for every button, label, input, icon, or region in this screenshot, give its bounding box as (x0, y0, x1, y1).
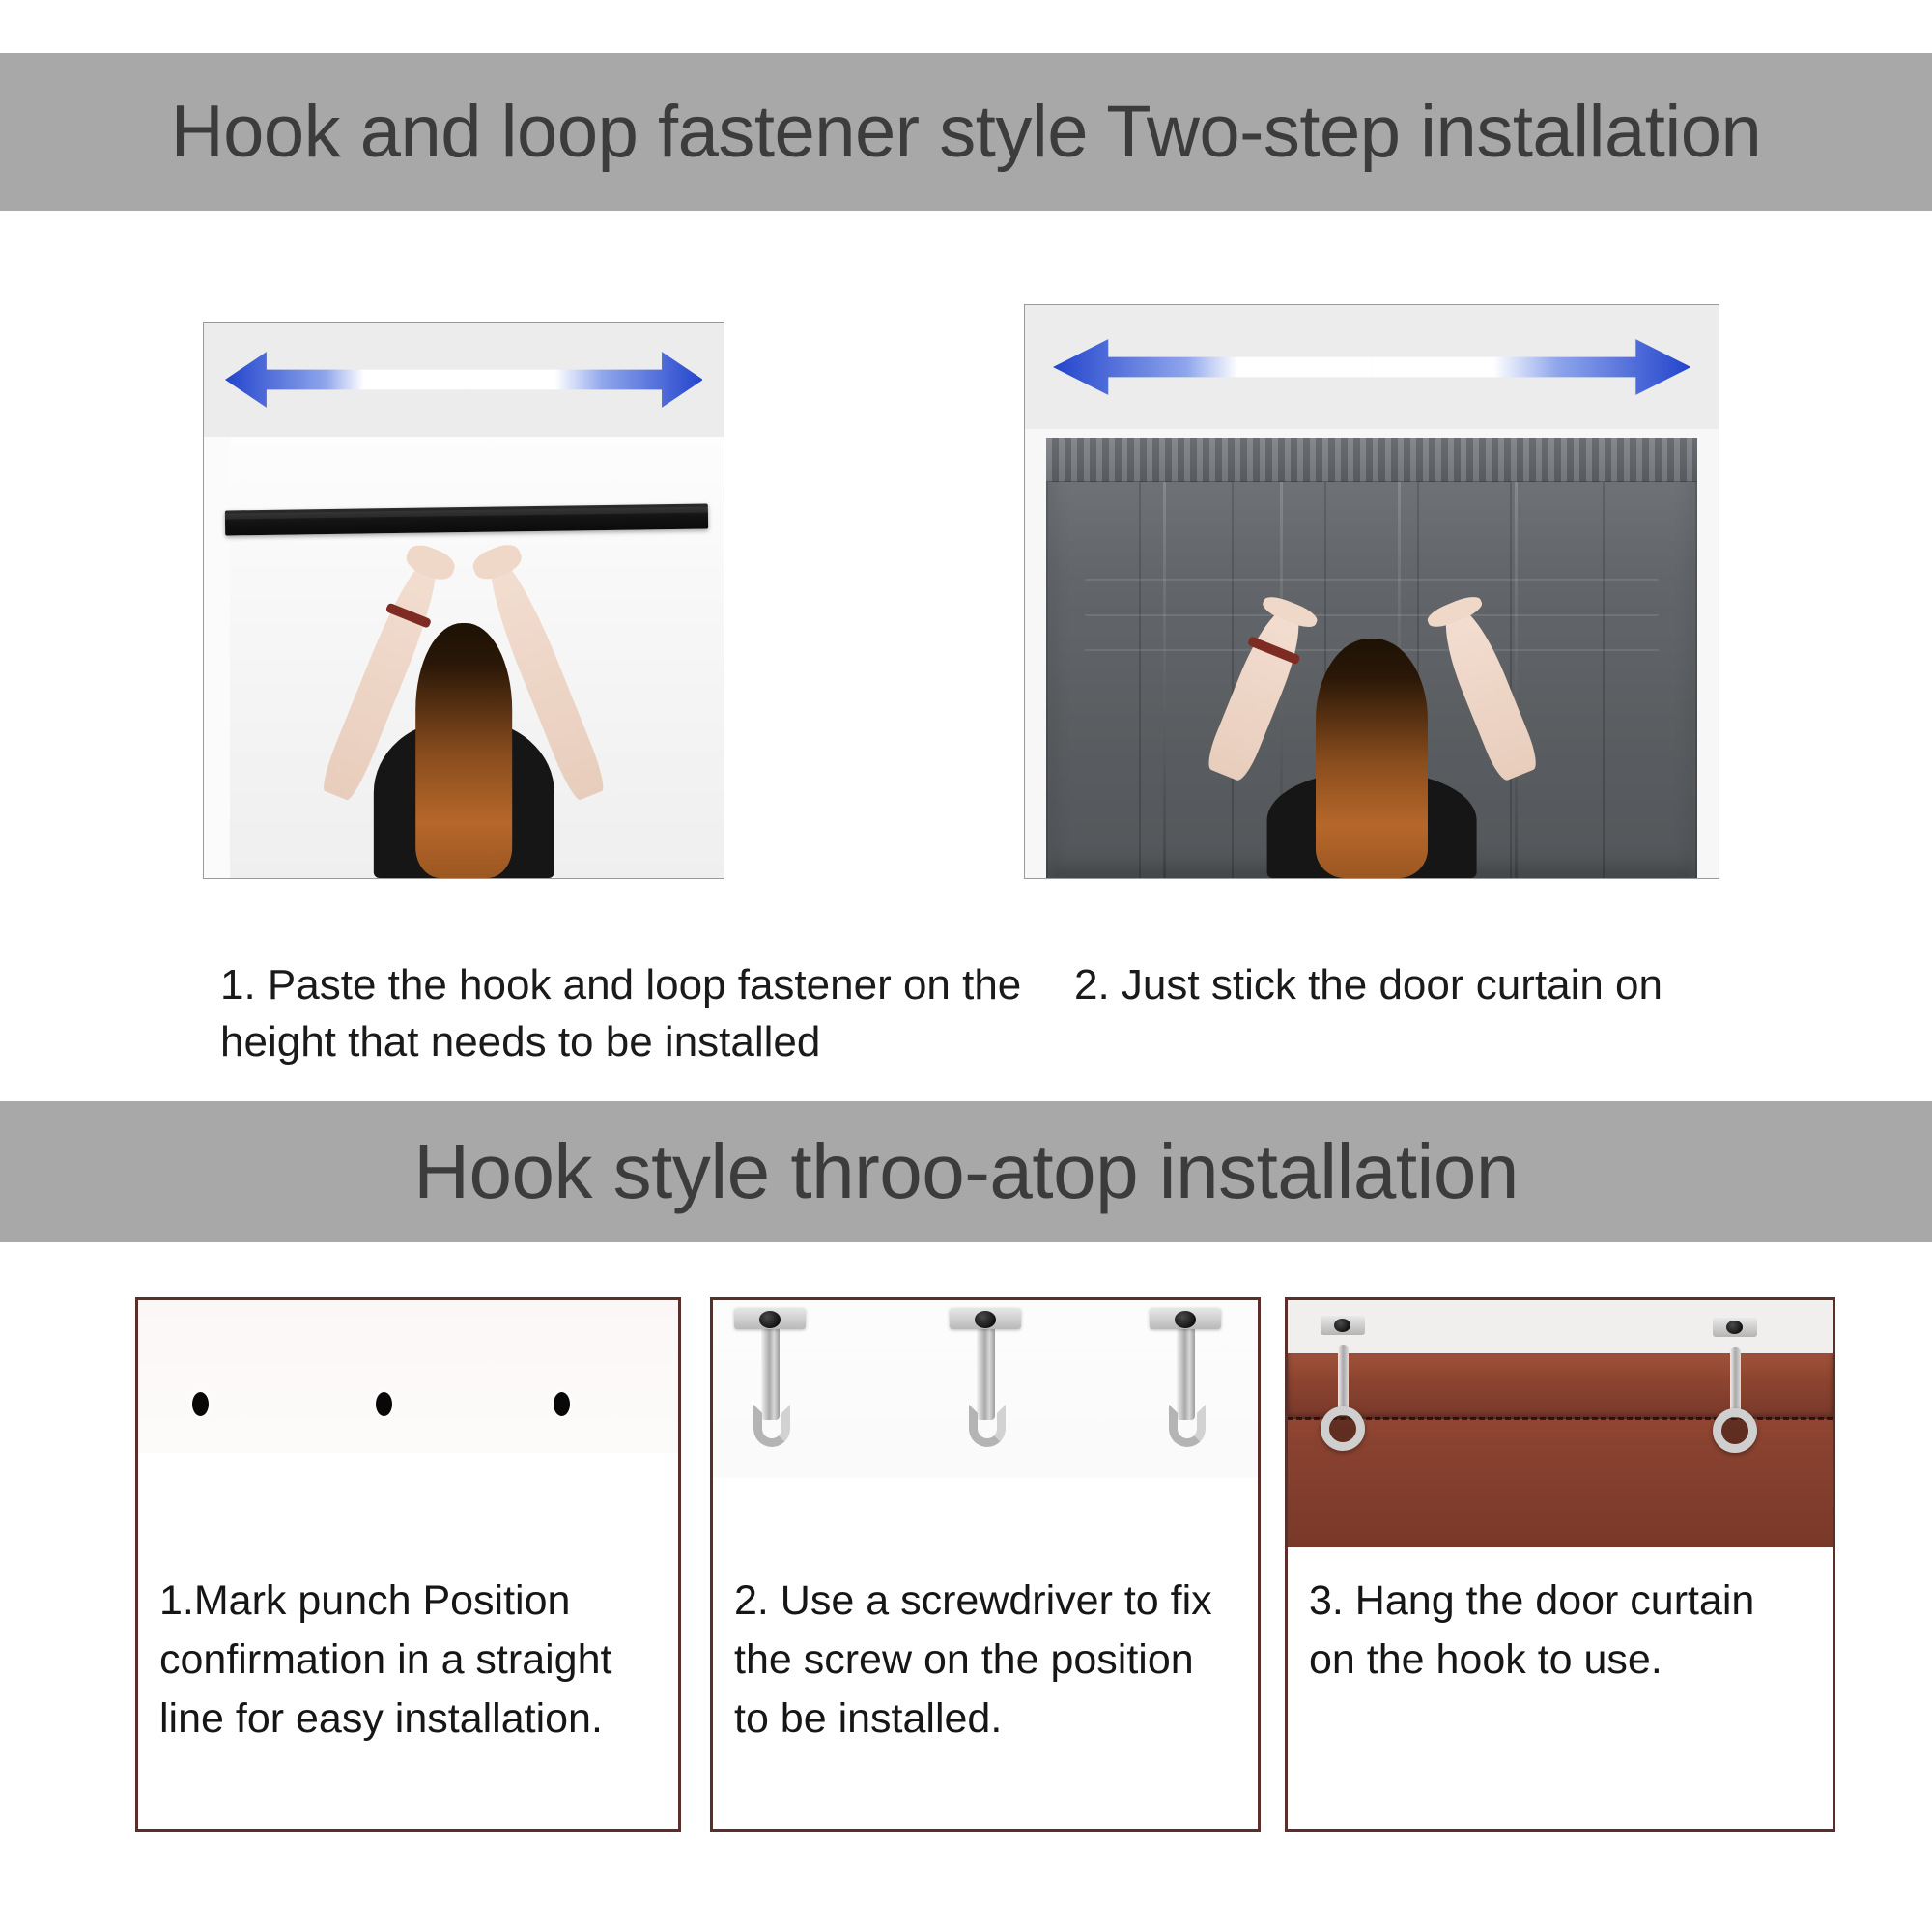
punch-mark-dot (192, 1392, 209, 1416)
hook-screw (1175, 1311, 1196, 1328)
caption-card-2: 2. Use a screwdriver to fix the screw on… (713, 1547, 1258, 1748)
hook-stem (1338, 1345, 1349, 1416)
wall-hook (1150, 1308, 1221, 1453)
arrow-band-step-1 (204, 323, 724, 437)
double-arrow-icon (1053, 337, 1691, 397)
person-figure-back-view (302, 534, 625, 878)
curtain-wrinkle (1085, 579, 1659, 581)
photo-leather-curtain-on-hooks (1288, 1300, 1833, 1547)
right-arm (1433, 601, 1541, 782)
curtain-grommet (1321, 1406, 1365, 1451)
photo-step-1-hook-and-loop (203, 322, 724, 879)
caption-card-1: 1.Mark punch Position confirmation in a … (138, 1547, 678, 1748)
punch-mark-dot (554, 1392, 570, 1416)
wall-hook (950, 1308, 1021, 1453)
scene-step-1 (204, 437, 724, 878)
photo-metal-hooks (713, 1300, 1258, 1547)
caption-step-1: 1. Paste the hook and loop fastener on t… (220, 956, 1022, 1071)
wall-hook (1321, 1316, 1365, 1335)
card-step-1-mark-punch: 1.Mark punch Position confirmation in a … (135, 1297, 681, 1832)
hair (1316, 639, 1428, 878)
photo-punch-marks (138, 1300, 678, 1547)
bracelet (385, 602, 432, 628)
scene-step-2 (1025, 429, 1719, 878)
hair (415, 623, 512, 878)
person-figure-back-view (1184, 600, 1559, 878)
photo-step-2-stick-curtain (1024, 304, 1719, 879)
hook-curl (753, 1405, 790, 1447)
right-hand (469, 540, 526, 584)
hook-screw (1726, 1321, 1743, 1334)
hook-stem (1730, 1347, 1741, 1418)
left-hand (403, 540, 459, 584)
wall-surface (138, 1300, 678, 1547)
section-banner-hook-style: Hook style throo-atop installation (0, 1101, 1932, 1242)
wall-hook (1713, 1318, 1757, 1337)
wall-hook (734, 1308, 806, 1453)
left-arm (1203, 601, 1311, 782)
punch-mark-dot (376, 1392, 392, 1416)
hook-screw (975, 1311, 996, 1328)
curtain-crease (1163, 482, 1166, 878)
curtain-grommet (1713, 1408, 1757, 1453)
bracelet (1247, 636, 1300, 665)
hook-curl (969, 1405, 1006, 1447)
curtain-top-band (1046, 438, 1698, 482)
banner-title-hook-style: Hook style throo-atop installation (413, 1127, 1519, 1216)
top-photo-row (0, 322, 1932, 901)
hook-curl (1169, 1405, 1206, 1447)
caption-step-2: 2. Just stick the door curtain on (1074, 956, 1808, 1013)
brown-leather-curtain (1288, 1353, 1833, 1547)
curtain-top-roll (1288, 1353, 1833, 1419)
card-step-2-use-screwdriver: 2. Use a screwdriver to fix the screw on… (710, 1297, 1261, 1832)
hook-screw (1334, 1319, 1350, 1332)
banner-title-hook-and-loop: Hook and loop fastener style Two-step in… (171, 90, 1762, 174)
section-banner-hook-and-loop: Hook and loop fastener style Two-step in… (0, 53, 1932, 211)
caption-card-3: 3. Hang the door curtain on the hook to … (1288, 1547, 1833, 1690)
double-arrow-icon (225, 350, 703, 410)
arrow-band-step-2 (1025, 305, 1719, 429)
card-step-3-hang-curtain: 3. Hang the door curtain on the hook to … (1285, 1297, 1835, 1832)
hook-screw (759, 1311, 781, 1328)
scene-hanging-curtain (1288, 1300, 1833, 1547)
bottom-card-row: 1.Mark punch Position confirmation in a … (0, 1297, 1932, 1833)
